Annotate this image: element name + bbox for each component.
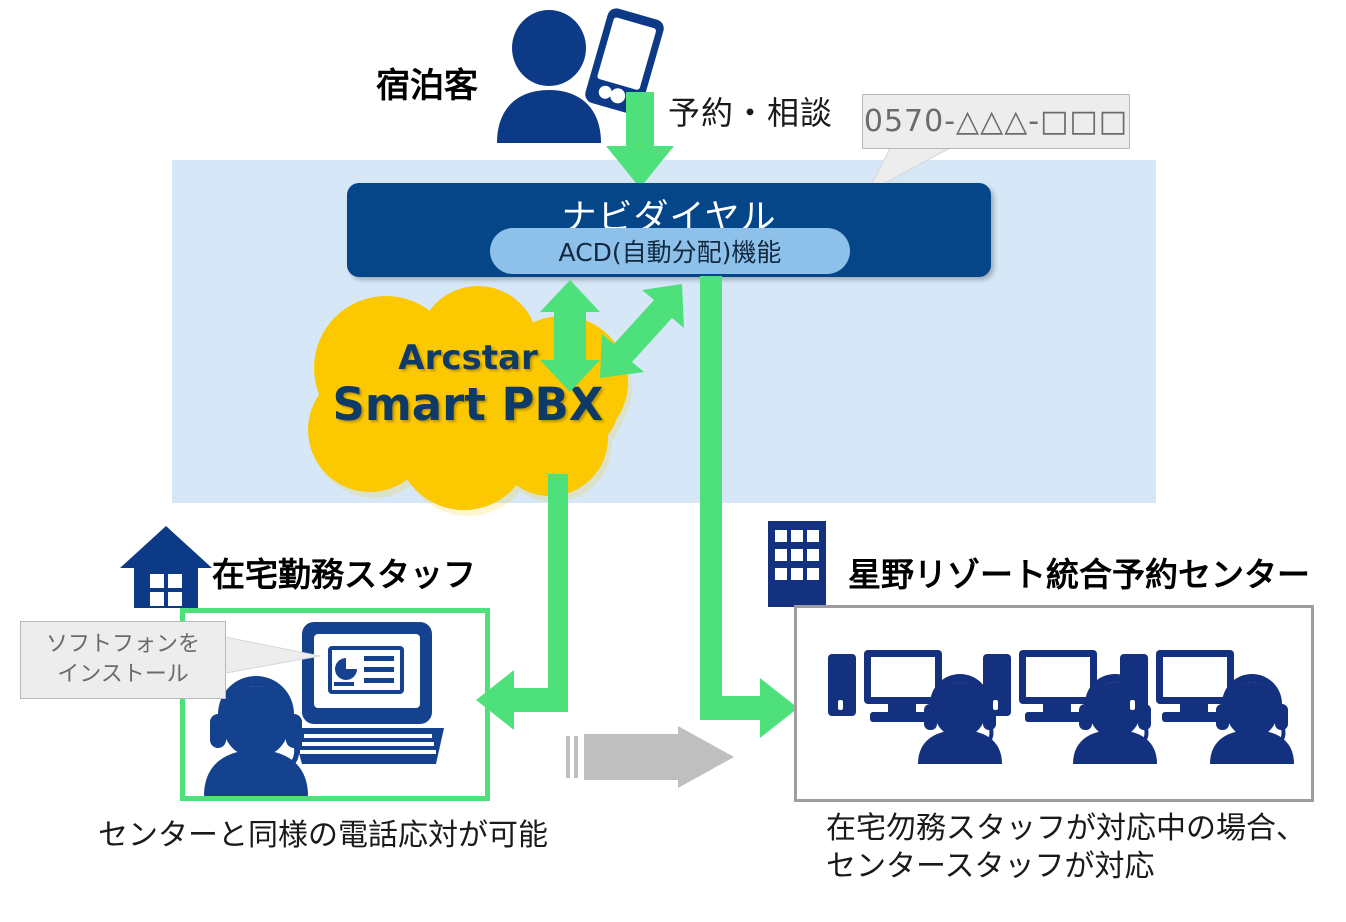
- overflow-gray-arrow: [558, 726, 738, 788]
- house-icon: [118, 524, 214, 610]
- page-label-guest: 宿泊客: [376, 58, 478, 107]
- route-navidial-to-center: [698, 276, 808, 736]
- label-reservation-consult: 予約・相談: [668, 88, 833, 134]
- caption-center-line2: センタースタッフが対応: [826, 848, 1306, 886]
- softphone-callout-line1: ソフトフォンを: [46, 630, 200, 660]
- caption-home-staff: センターと同様の電話応対が可能: [98, 810, 548, 854]
- operator-unit: [828, 650, 1002, 764]
- center-operators-group: [826, 644, 1296, 764]
- office-building-icon: [768, 521, 826, 607]
- phone-number-callout: 0570-△△△-□□□: [862, 94, 1130, 149]
- softphone-callout: ソフトフォンを インストール: [20, 621, 226, 699]
- caption-center-line1: 在宅勿務スタッフが対応中の場合、: [826, 810, 1306, 848]
- acd-feature-pill: ACD(自動分配)機能: [490, 228, 850, 274]
- label-home-staff: 在宅勤務スタッフ: [212, 548, 476, 596]
- diagram-canvas: 宿泊客 予約・相談 0570-△△△-□□□ ナビダイヤル ACD(自動分配)機…: [0, 0, 1346, 922]
- label-reservation-center: 星野リゾート統合予約センター: [848, 548, 1310, 596]
- caption-reservation-center: 在宅勿務スタッフが対応中の場合、 センタースタッフが対応: [826, 810, 1306, 887]
- softphone-callout-line2: インストール: [57, 660, 189, 690]
